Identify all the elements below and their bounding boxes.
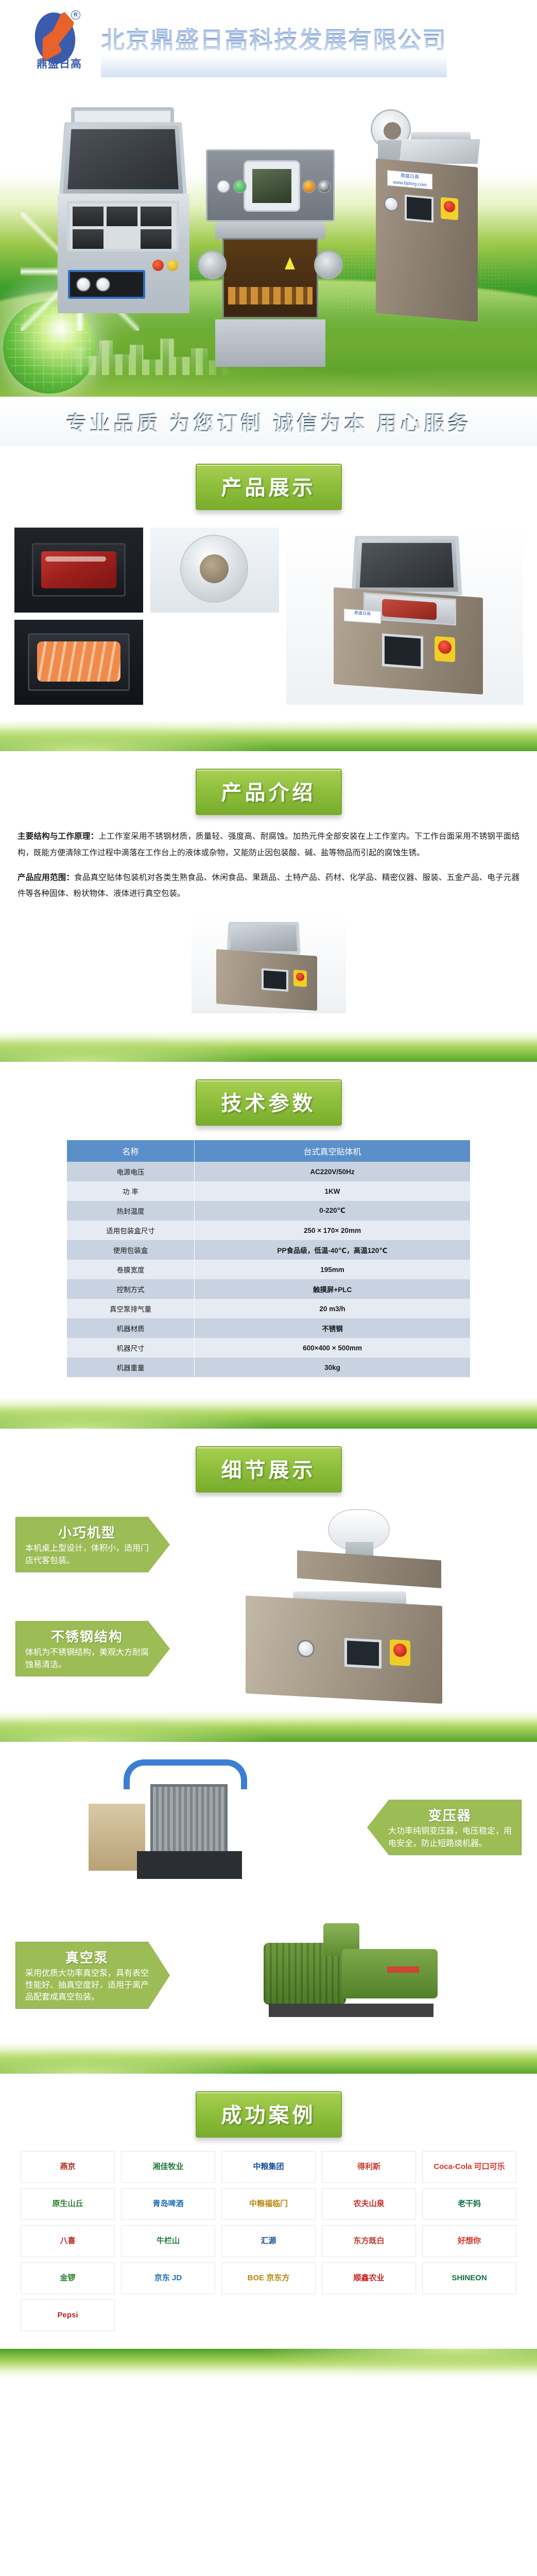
client-logo[interactable]: 青岛啤酒 [121, 2188, 215, 2220]
spec-header-value: 台式真空贴体机 [195, 1140, 470, 1162]
spec-row-name: 真空泵排气量 [67, 1299, 195, 1318]
spec-row-value: 20 m3/h [195, 1299, 470, 1318]
banner-machine-open-lid [57, 107, 190, 313]
banner-machine-with-film-roll: 鼎盛日高 www.bjdsrg.com [355, 109, 484, 336]
callout-row-compact: 小巧机型 本机桌上型设计，体积小，适用门店代客包装。 [0, 1503, 537, 1586]
intro-paragraph-1: 主要结构与工作原理：上工作室采用不锈钢材质，质量轻、强度高、耐腐蚀。加热元件全部… [18, 828, 519, 861]
spec-table-wrapper: 名称 台式真空贴体机 电源电压AC220V/50Hz功 率1KW热封温度0-22… [0, 1131, 537, 1398]
callout-stainless-structure: 不锈钢结构 体机为不锈钢结构，美观大方耐腐蚀易清洁。 [15, 1621, 170, 1676]
green-divider-3 [0, 1398, 537, 1429]
slogan-bar: 专业品质 为您订制 诚信为本 用心服务 [0, 397, 537, 446]
green-divider-2 [0, 1031, 537, 1062]
detail-block-bottom: 变压器 大功率纯铜变压器，电压稳定，用电安全，防止短路烧机器。 真空泵 采用优质… [0, 1742, 537, 2043]
photo-main-machine: 鼎盛日高 [286, 528, 523, 705]
client-logo[interactable]: 金锣 [21, 2262, 115, 2294]
table-row: 控制方式触摸屏+PLC [67, 1279, 470, 1299]
photo-detail-machine-body [235, 1589, 457, 1708]
spec-row-value: 不锈钢 [195, 1318, 470, 1338]
spec-row-value: PP食品级，低温-40℃，高温120℃ [195, 1240, 470, 1260]
callout-transformer-text: 大功率纯铜变压器，电压稳定，用电安全，防止短路烧机器。 [388, 1825, 512, 1849]
spec-row-name: 功 率 [67, 1181, 195, 1201]
callout-pump-title: 真空泵 [25, 1947, 149, 1967]
photo-machine-brand: 鼎盛日高 [344, 609, 380, 618]
cases-section: 燕京湘佳牧业中粮集团得利斯Coca-Cola 可口可乐原生山丘青岛啤酒中粮福临门… [0, 2143, 537, 2349]
spec-row-value: 195mm [195, 1260, 470, 1279]
photo-meat-tray [14, 528, 143, 613]
client-logo[interactable]: 汇源 [221, 2225, 316, 2257]
section-title-tech-spec: 技术参数 [196, 1079, 342, 1126]
intro-label-2: 产品应用范围： [18, 873, 74, 882]
spec-row-name: 热封温度 [67, 1201, 195, 1221]
spec-row-value: 600×400 × 500mm [195, 1338, 470, 1358]
client-logo[interactable]: 八喜 [21, 2225, 115, 2257]
tech-spec-header: 技术参数 [0, 1062, 537, 1131]
spec-row-value: 触摸屏+PLC [195, 1279, 470, 1299]
product-intro-body: 主要结构与工作原理：上工作室采用不锈钢材质，质量轻、强度高、耐腐蚀。加热元件全部… [0, 820, 537, 1031]
section-title-product-showcase: 产品展示 [196, 464, 342, 510]
section-title-detail: 细节展示 [196, 1446, 342, 1493]
callout-pump-text: 采用优质大功率真空泵，具有表空性能好、抽真空度好，适用于离产品配套成真空包装。 [25, 1968, 149, 2004]
client-logo[interactable]: 农夫山泉 [322, 2188, 416, 2220]
intro-paragraph-2: 产品应用范围：食品真空贴体包装机对各类生熟食品、休闲食品、果蔬品、土特产品、药材… [18, 870, 519, 903]
client-logo[interactable]: 东方既白 [322, 2225, 416, 2257]
client-logo[interactable]: 湘佳牧业 [121, 2151, 215, 2183]
client-logo[interactable]: 牛栏山 [121, 2225, 215, 2257]
product-gallery: 鼎盛日高 [0, 515, 537, 720]
spec-row-value: 250 × 170× 20mm [195, 1221, 470, 1240]
photo-detail-film-head [235, 1506, 457, 1583]
registered-trademark-icon: R [71, 10, 80, 20]
product-intro-header: 产品介绍 [0, 751, 537, 820]
banner-machine-chamber [206, 149, 335, 366]
spec-row-name: 机器材质 [67, 1318, 195, 1338]
spec-header-name: 名称 [67, 1140, 195, 1162]
client-logo[interactable]: 燕京 [21, 2151, 115, 2183]
company-name: 北京鼎盛日高科技发展有限公司 [101, 22, 447, 56]
client-logo[interactable]: Coca-Cola 可口可乐 [422, 2151, 516, 2183]
spec-row-name: 机器尺寸 [67, 1338, 195, 1358]
table-row: 机器尺寸600×400 × 500mm [67, 1338, 470, 1358]
callout-row-stainless: 不锈钢结构 体机为不锈钢结构，美观大方耐腐蚀易清洁。 [0, 1586, 537, 1711]
callout-compact-text: 本机桌上型设计，体积小，适用门店代客包装。 [25, 1543, 149, 1566]
green-divider-1 [0, 720, 537, 751]
client-logo[interactable]: 原生山丘 [21, 2188, 115, 2220]
callout-stainless-title: 不锈钢结构 [25, 1626, 149, 1646]
intro-label-1: 主要结构与工作原理： [18, 832, 98, 841]
client-logo[interactable]: BOE 京东方 [221, 2262, 316, 2294]
section-title-product-intro: 产品介绍 [196, 769, 342, 815]
client-logo[interactable]: SHINEON [422, 2262, 516, 2294]
callout-compact-model: 小巧机型 本机桌上型设计，体积小，适用门店代客包装。 [15, 1517, 170, 1572]
table-row: 机器材质不锈钢 [67, 1318, 470, 1338]
cases-header: 成功案例 [0, 2074, 537, 2143]
spec-row-name: 使用包装盒 [67, 1240, 195, 1260]
table-row: 功 率1KW [67, 1181, 470, 1201]
slogan-text: 专业品质 为您订制 诚信为本 用心服务 [66, 406, 471, 436]
product-detail-page: R 鼎盛日高 北京鼎盛日高科技发展有限公司 [0, 0, 537, 2378]
footer-green-strip [0, 2349, 537, 2378]
client-logo[interactable]: 顺鑫农业 [322, 2262, 416, 2294]
spec-row-name: 控制方式 [67, 1279, 195, 1299]
logo-brand-text: 鼎盛日高 [31, 56, 88, 71]
callout-row-vacuum-pump: 真空泵 采用优质大功率真空泵，具有表空性能好、抽真空度好，适用于离产品配套成真空… [0, 1908, 537, 2043]
product-showcase-header: 产品展示 [0, 446, 537, 515]
hero-banner: 鼎盛日高 www.bjdsrg.com [0, 77, 537, 397]
client-logo[interactable]: 京东 JD [121, 2262, 215, 2294]
client-logo[interactable]: 好想你 [422, 2225, 516, 2257]
spec-row-name: 电源电压 [67, 1162, 195, 1181]
callout-transformer: 变压器 大功率纯铜变压器，电压稳定，用电安全，防止短路烧机器。 [367, 1800, 522, 1855]
detail-block-top: 小巧机型 本机桌上型设计，体积小，适用门店代客包装。 不锈钢结构 体机为不锈钢结… [0, 1498, 537, 1711]
spec-row-value: 1KW [195, 1181, 470, 1201]
detail-header: 细节展示 [0, 1429, 537, 1498]
client-logo-grid: 燕京湘佳牧业中粮集团得利斯Coca-Cola 可口可乐原生山丘青岛啤酒中粮福临门… [0, 2143, 537, 2336]
table-row: 适用包装盒尺寸250 × 170× 20mm [67, 1221, 470, 1240]
section-title-cases: 成功案例 [196, 2091, 342, 2138]
green-divider-4 [0, 1711, 537, 1742]
page-header: R 鼎盛日高 北京鼎盛日高科技发展有限公司 [0, 0, 537, 77]
photo-intro-machine [192, 916, 346, 1013]
green-divider-5 [0, 2043, 537, 2074]
photo-salmon-tray [14, 620, 143, 705]
client-logo[interactable]: Pepsi [21, 2299, 115, 2331]
callout-vacuum-pump: 真空泵 采用优质大功率真空泵，具有表空性能好、抽真空度好，适用于离产品配套成真空… [15, 1942, 170, 2009]
photo-film-roll [150, 528, 279, 613]
spec-table-header-row: 名称 台式真空贴体机 [67, 1140, 470, 1162]
table-row: 机器重量30kg [67, 1358, 470, 1377]
company-logo: R 鼎盛日高 [26, 5, 93, 72]
client-logo[interactable]: 中粮集团 [221, 2151, 316, 2183]
spec-row-name: 卷膜宽度 [67, 1260, 195, 1279]
callout-transformer-title: 变压器 [388, 1805, 512, 1824]
spec-row-value: 0-220℃ [195, 1201, 470, 1221]
callout-compact-title: 小巧机型 [25, 1522, 149, 1541]
photo-transformer [83, 1750, 300, 1905]
spec-table: 名称 台式真空贴体机 电源电压AC220V/50Hz功 率1KW热封温度0-22… [67, 1140, 470, 1377]
spec-row-value: 30kg [195, 1358, 470, 1377]
intro-text-2: 食品真空贴体包装机对各类生熟食品、休闲食品、果蔬品、土特产品、药材、化学品、精密… [18, 873, 519, 899]
spec-row-name: 机器重量 [67, 1358, 195, 1377]
client-logo[interactable]: 得利斯 [322, 2151, 416, 2183]
callout-stainless-text: 体机为不锈钢结构，美观大方耐腐蚀易清洁。 [25, 1647, 149, 1670]
callout-row-transformer: 变压器 大功率纯铜变压器，电压稳定，用电安全，防止短路烧机器。 [0, 1747, 537, 1908]
spec-row-value: AC220V/50Hz [195, 1162, 470, 1181]
photo-vacuum-pump [233, 1911, 459, 2040]
table-row: 热封温度0-220℃ [67, 1201, 470, 1221]
table-row: 卷膜宽度195mm [67, 1260, 470, 1279]
client-logo[interactable]: 老干妈 [422, 2188, 516, 2220]
table-row: 真空泵排气量20 m3/h [67, 1299, 470, 1318]
table-row: 电源电压AC220V/50Hz [67, 1162, 470, 1181]
spec-table-body: 电源电压AC220V/50Hz功 率1KW热封温度0-220℃适用包装盒尺寸25… [67, 1162, 470, 1377]
table-row: 使用包装盒PP食品级，低温-40℃，高温120℃ [67, 1240, 470, 1260]
client-logo[interactable]: 中粮福临门 [221, 2188, 316, 2220]
spec-row-name: 适用包装盒尺寸 [67, 1221, 195, 1240]
